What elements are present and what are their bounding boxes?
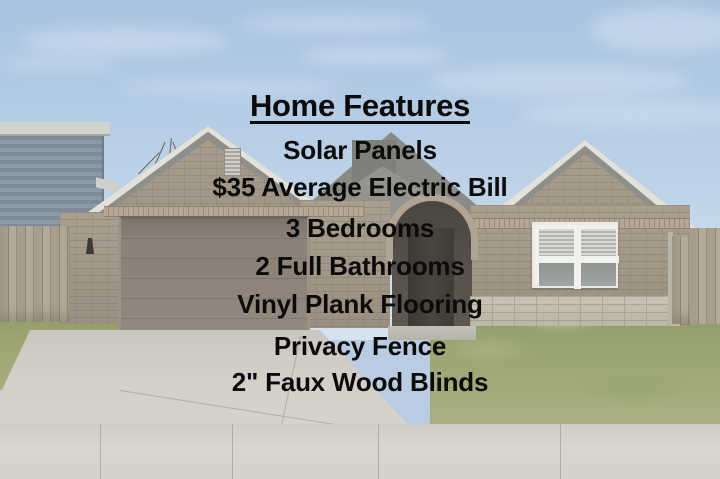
- front-window: [532, 222, 618, 288]
- window-pane: [581, 262, 616, 286]
- stone-veneer-base: [470, 296, 680, 326]
- neighbor-house-roof: [0, 122, 110, 136]
- cloud: [0, 56, 120, 70]
- cloud: [20, 28, 230, 54]
- cloud: [120, 78, 340, 96]
- cloud: [590, 8, 720, 52]
- window-pane-with-blinds: [539, 229, 574, 257]
- sidewalk: [0, 424, 720, 479]
- cloud: [240, 14, 430, 34]
- window-pane-with-blinds: [581, 229, 616, 257]
- cloud: [430, 66, 690, 96]
- privacy-fence-far-right: [690, 228, 720, 324]
- privacy-fence-left: [0, 226, 70, 322]
- window-pane: [539, 262, 574, 286]
- cloud: [520, 100, 720, 126]
- window-mullion-horizontal: [537, 256, 619, 263]
- porch-step: [388, 326, 476, 340]
- garage-door: [118, 216, 310, 334]
- attic-vent: [224, 148, 241, 176]
- listing-photo: Home Features Solar Panels $35 Average E…: [0, 0, 720, 479]
- brick-wall-center: [300, 200, 390, 328]
- cloud: [300, 48, 450, 64]
